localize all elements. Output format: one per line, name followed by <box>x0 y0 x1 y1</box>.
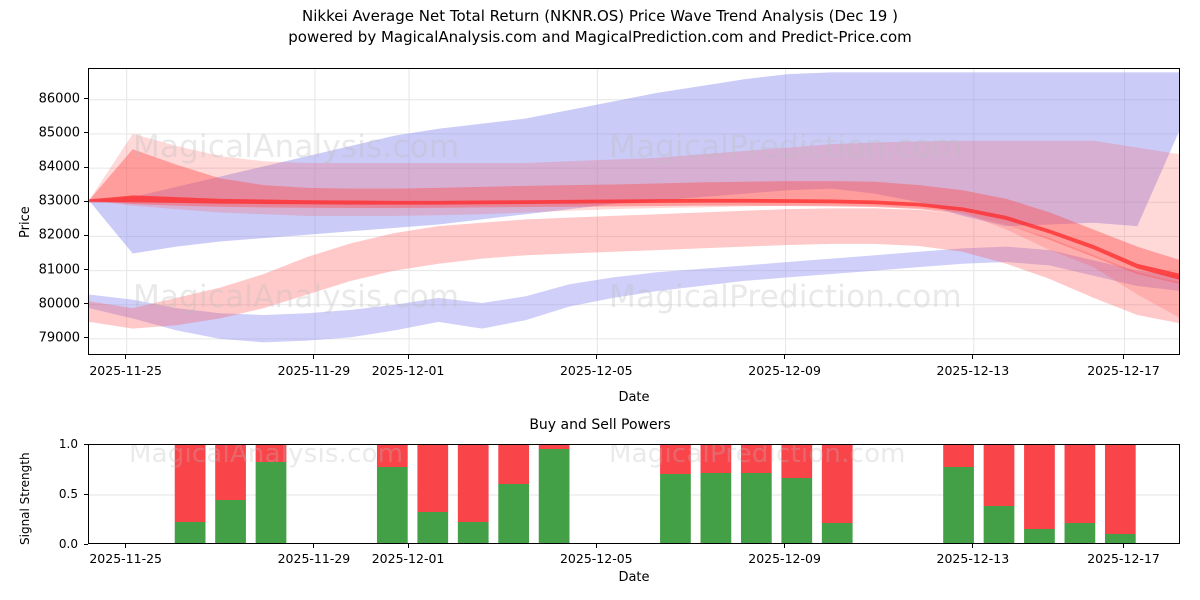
buy-power-segment[interactable] <box>1024 529 1055 544</box>
price-xtick-label: 2025-12-05 <box>560 363 633 378</box>
price-xtick-label: 2025-11-29 <box>278 363 351 378</box>
sell-power-segment[interactable] <box>822 445 853 523</box>
sell-power-segment[interactable] <box>943 445 974 467</box>
price-xtick-mark <box>313 355 314 359</box>
price-ytick-label: 82000 <box>12 228 80 243</box>
price-ytick-mark <box>84 269 88 270</box>
buy-power-segment[interactable] <box>215 500 246 544</box>
price-ytick-mark <box>84 303 88 304</box>
signal-xtick-label: 2025-12-09 <box>748 551 821 566</box>
sell-power-segment[interactable] <box>781 445 812 478</box>
signal-xtick-label: 2025-11-29 <box>278 551 351 566</box>
sell-power-segment[interactable] <box>984 445 1015 506</box>
buy-sell-svg <box>89 445 1180 544</box>
signal-bar[interactable] <box>1065 445 1096 544</box>
signal-bar[interactable] <box>256 445 287 544</box>
sell-power-segment[interactable] <box>1065 445 1096 523</box>
buy-power-segment[interactable] <box>984 506 1015 544</box>
price-xtick-mark <box>972 355 973 359</box>
price-xtick-label: 2025-11-25 <box>89 363 162 378</box>
signal-chart-title: Buy and Sell Powers <box>0 417 1200 433</box>
signal-ytick-mark <box>84 444 88 445</box>
signal-xtick-mark <box>1123 544 1124 548</box>
signal-bar[interactable] <box>458 445 489 544</box>
buy-power-segment[interactable] <box>1065 523 1096 544</box>
signal-bar[interactable] <box>498 445 529 544</box>
signal-ytick-label: 1.0 <box>18 437 78 451</box>
chart-title-block: Nikkei Average Net Total Return (NKNR.OS… <box>0 6 1200 48</box>
signal-xtick-mark <box>972 544 973 548</box>
signal-ytick-label: 0.0 <box>18 537 78 551</box>
price-xtick-label: 2025-12-17 <box>1087 363 1160 378</box>
price-wave-svg <box>89 69 1180 355</box>
sell-power-segment[interactable] <box>741 445 772 473</box>
sell-power-segment[interactable] <box>256 445 287 462</box>
sell-power-segment[interactable] <box>701 445 732 473</box>
sell-power-segment[interactable] <box>458 445 489 522</box>
price-ytick-mark <box>84 98 88 99</box>
buy-power-segment[interactable] <box>741 473 772 544</box>
price-ytick-label: 86000 <box>12 91 80 106</box>
signal-bar[interactable] <box>215 445 246 544</box>
buy-power-segment[interactable] <box>175 522 206 544</box>
signal-bar[interactable] <box>417 445 448 544</box>
sell-power-segment[interactable] <box>175 445 206 522</box>
signal-xtick-label: 2025-12-13 <box>937 551 1010 566</box>
signal-bar[interactable] <box>984 445 1015 544</box>
signal-bar[interactable] <box>822 445 853 544</box>
signal-bar[interactable] <box>1024 445 1055 544</box>
buy-power-segment[interactable] <box>822 523 853 544</box>
sell-power-segment[interactable] <box>660 445 691 474</box>
price-ytick-mark <box>84 337 88 338</box>
price-xaxis-label: Date <box>88 390 1180 405</box>
signal-xaxis-label: Date <box>88 570 1180 585</box>
signal-xtick-label: 2025-12-05 <box>560 551 633 566</box>
price-xtick-mark <box>1123 355 1124 359</box>
buy-power-segment[interactable] <box>781 478 812 544</box>
signal-xtick-mark <box>596 544 597 548</box>
price-xtick-mark <box>596 355 597 359</box>
price-ytick-mark <box>84 167 88 168</box>
signal-xtick-label: 2025-12-17 <box>1087 551 1160 566</box>
signal-bar[interactable] <box>781 445 812 544</box>
price-wave-chart: MagicalAnalysis.com MagicalPrediction.co… <box>88 68 1180 355</box>
sell-power-segment[interactable] <box>215 445 246 500</box>
buy-sell-powers-chart: MagicalAnalysis.com MagicalPrediction.co… <box>88 444 1180 544</box>
sell-power-segment[interactable] <box>1105 445 1136 534</box>
price-ytick-mark <box>84 201 88 202</box>
signal-xtick-mark <box>784 544 785 548</box>
price-xtick-mark <box>408 355 409 359</box>
price-ytick-label: 79000 <box>12 330 80 345</box>
price-ytick-label: 80000 <box>12 296 80 311</box>
signal-ytick-label: 0.5 <box>18 487 78 501</box>
signal-bar[interactable] <box>741 445 772 544</box>
buy-power-segment[interactable] <box>417 512 448 544</box>
signal-bar[interactable] <box>701 445 732 544</box>
buy-power-segment[interactable] <box>458 522 489 544</box>
price-ytick-label: 85000 <box>12 125 80 140</box>
signal-bar[interactable] <box>1105 445 1136 544</box>
sell-power-segment[interactable] <box>377 445 408 467</box>
signal-xtick-mark <box>313 544 314 548</box>
price-ytick-mark <box>84 235 88 236</box>
signal-ytick-mark <box>84 494 88 495</box>
sell-power-segment[interactable] <box>417 445 448 512</box>
signal-xtick-mark <box>408 544 409 548</box>
sell-power-segment[interactable] <box>539 445 570 449</box>
price-xtick-mark <box>125 355 126 359</box>
signal-xtick-label: 2025-12-01 <box>372 551 445 566</box>
signal-bar[interactable] <box>943 445 974 544</box>
buy-power-segment[interactable] <box>943 467 974 544</box>
price-xtick-label: 2025-12-09 <box>748 363 821 378</box>
buy-power-segment[interactable] <box>377 467 408 544</box>
page-title: Nikkei Average Net Total Return (NKNR.OS… <box>0 6 1200 27</box>
price-xtick-label: 2025-12-13 <box>937 363 1010 378</box>
signal-bar[interactable] <box>377 445 408 544</box>
sell-power-segment[interactable] <box>498 445 529 484</box>
buy-power-segment[interactable] <box>1105 534 1136 544</box>
sell-power-segment[interactable] <box>1024 445 1055 529</box>
buy-power-segment[interactable] <box>701 473 732 544</box>
signal-xtick-label: 2025-11-25 <box>89 551 162 566</box>
signal-xtick-mark <box>125 544 126 548</box>
signal-bar[interactable] <box>175 445 206 544</box>
signal-bar[interactable] <box>660 445 691 544</box>
buy-power-segment[interactable] <box>498 484 529 544</box>
buy-power-segment[interactable] <box>660 474 691 544</box>
buy-power-segment[interactable] <box>539 449 570 544</box>
price-xtick-mark <box>784 355 785 359</box>
page-subtitle: powered by MagicalAnalysis.com and Magic… <box>0 27 1200 48</box>
price-ytick-label: 83000 <box>12 194 80 209</box>
buy-power-segment[interactable] <box>256 462 287 544</box>
signal-bar[interactable] <box>539 445 570 544</box>
price-ytick-label: 81000 <box>12 262 80 277</box>
signal-ytick-mark <box>84 544 88 545</box>
price-xtick-label: 2025-12-01 <box>372 363 445 378</box>
price-ytick-label: 84000 <box>12 160 80 175</box>
price-ytick-mark <box>84 132 88 133</box>
